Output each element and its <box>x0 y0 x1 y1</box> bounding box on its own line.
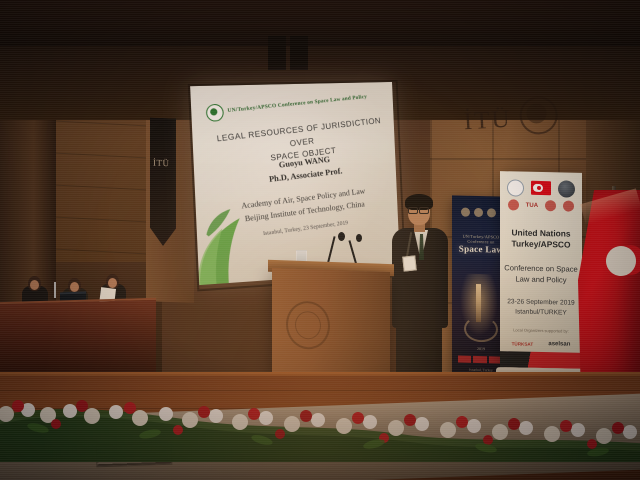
conference-standing-banner: TUA United Nations Turkey/APSCO Conferen… <box>500 171 582 369</box>
speaker-glasses-icon <box>408 207 428 212</box>
banner-logo-row-primary <box>504 176 578 200</box>
turkish-flag-icon <box>531 181 551 195</box>
panel-table <box>0 298 156 382</box>
rollup-logo-tua-icon <box>487 208 496 217</box>
itu-wall-logo: İTÜ <box>451 93 564 153</box>
rollup-logo-apsco-icon <box>474 207 483 216</box>
apsco-emblem-icon <box>558 180 575 197</box>
agency-logo-2-icon <box>545 200 556 211</box>
microphone-head-2 <box>356 234 362 242</box>
panel-microphone <box>54 282 56 298</box>
un-apsco-logo-icon <box>205 103 224 122</box>
rollup-wreath-icon <box>464 316 498 343</box>
agency-logo-3-icon <box>563 200 574 211</box>
flower-arrangement <box>0 384 640 462</box>
rollup-logo-row <box>456 203 500 220</box>
un-emblem-icon <box>507 179 524 196</box>
rollup-date: 2019 <box>454 345 504 351</box>
banner-logo-row-agencies: TUA <box>504 198 578 213</box>
banner-event-title: Conference on Space Law and Policy <box>504 263 578 286</box>
banner-footer-stripe <box>500 351 582 369</box>
green-leaf-graphic-icon <box>190 198 264 285</box>
flower-row-graphic <box>0 384 640 462</box>
agency-logo-tua: TUA <box>526 202 538 208</box>
ceiling-beam <box>0 0 640 46</box>
sponsor-aselsan: aselsan <box>548 341 570 347</box>
rollup-title: Space Law <box>454 243 504 254</box>
conference-photo-scene: İTÜ İTÜ UN/Turkey/APSCO Conference on Sp… <box>0 0 640 480</box>
microphone-head-1 <box>338 232 345 241</box>
itu-pennant-label: İTÜ <box>153 158 170 169</box>
speaker-name-badge <box>402 255 416 271</box>
podium-itu-emblem-icon <box>286 300 330 350</box>
sponsor-turksat: TÜRKSAT <box>512 341 534 346</box>
agency-logo-1-icon <box>508 199 519 210</box>
itu-seal-icon <box>519 95 559 135</box>
banner-sponsor-row-1: TÜRKSAT aselsan <box>504 337 578 351</box>
banner-event-details: 23-26 September 2019 Istanbul/TURKEY <box>504 297 578 318</box>
banner-event-line2: Law and Policy <box>504 274 578 286</box>
rollup-color-bars <box>458 355 502 363</box>
banner-org-line2: Turkey/APSCO <box>504 239 578 252</box>
space-law-rollup-banner: UN/Turkey/APSCO Conference on Space Law … <box>452 195 504 380</box>
banner-organization: United Nations Turkey/APSCO <box>504 227 578 251</box>
banner-supporters-label: Local Organizers supported by: <box>504 327 578 334</box>
itu-wall-logo-text: İTÜ <box>463 106 512 136</box>
rollup-logo-un-icon <box>461 207 470 216</box>
itu-pennant-banner: İTÜ <box>150 118 176 247</box>
banner-place: Istanbul/TURKEY <box>504 307 578 318</box>
